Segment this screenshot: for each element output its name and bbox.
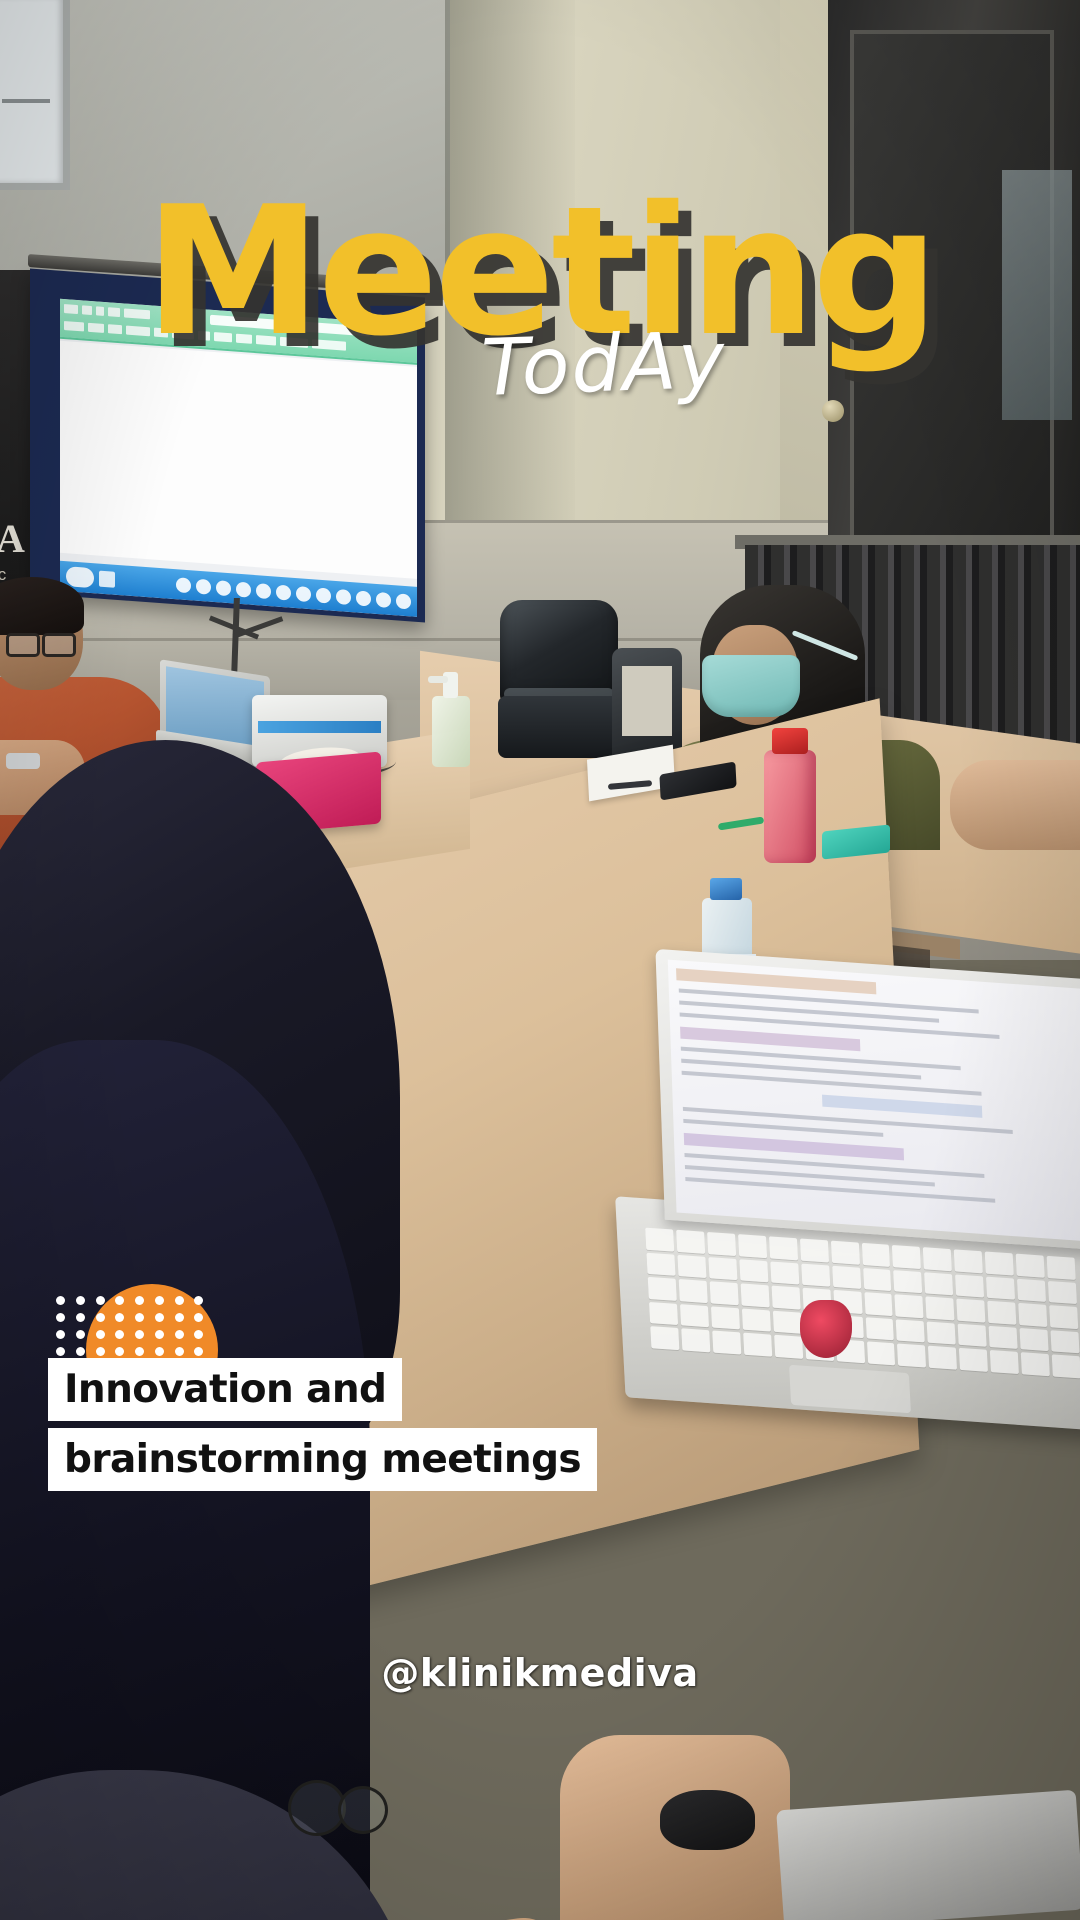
red-water-bottle	[764, 728, 816, 863]
face-mask	[702, 655, 800, 717]
computer-mouse	[660, 1790, 755, 1850]
laptop-trackpad	[789, 1365, 911, 1414]
story-canvas: A ic	[0, 0, 1080, 1920]
person-partial-right	[950, 760, 1080, 850]
laptop-screen	[668, 960, 1080, 1243]
account-handle[interactable]: @klinikmediva	[0, 1651, 1080, 1695]
laptop-white-right	[600, 965, 1080, 1435]
red-trinket	[800, 1300, 852, 1358]
window-top-left	[0, 0, 70, 190]
eyeglasses-icon-foreground	[288, 1780, 398, 1842]
laptop-bottom-right	[776, 1790, 1080, 1920]
left-board-letter: A	[0, 515, 26, 562]
caption-line-2: brainstorming meetings	[48, 1428, 597, 1491]
dot-grid-icon	[56, 1296, 206, 1354]
eyeglasses-icon	[6, 633, 76, 653]
caption-block: Innovation and brainstorming meetings	[48, 1288, 597, 1491]
caption-badge	[56, 1288, 231, 1358]
office-chair	[498, 600, 623, 760]
caption-line-1: Innovation and	[48, 1358, 402, 1421]
